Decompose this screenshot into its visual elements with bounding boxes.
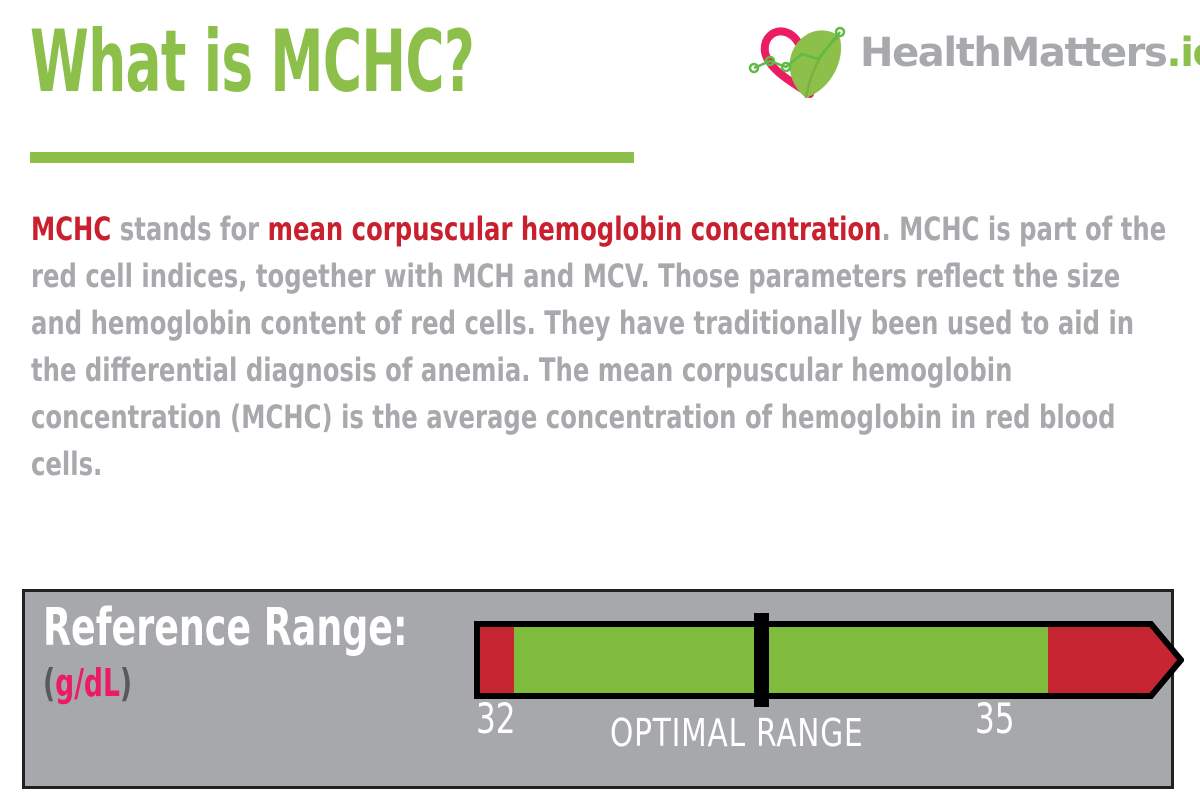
range-arrow-tip-icon [1151, 624, 1181, 696]
range-bar-track [477, 624, 1155, 696]
reference-range-bar [477, 624, 1167, 696]
logo-brand-text: HealthMatters [860, 30, 1166, 76]
reference-range-label-block: Reference Range: (g/dL) [43, 600, 463, 705]
healthmatters-heart-leaf-logo-icon [748, 24, 860, 102]
description-segment-1: stands for [111, 210, 267, 248]
logo-wordmark: HealthMatters.io [860, 33, 1200, 73]
site-logo[interactable]: HealthMatters.io [748, 24, 1168, 102]
description-segment-2: mean corpuscular hemoglobin concentratio… [268, 210, 882, 248]
description-segment-3: . MCHC is part of the red cell indices, … [31, 210, 1166, 483]
range-label-low: 32 [476, 698, 516, 740]
range-segment-optimal [514, 624, 1048, 696]
range-label-optimal: OPTIMAL RANGE [610, 714, 864, 752]
range-marker-tick [754, 613, 769, 707]
units-paren-close: ) [120, 661, 132, 705]
units-value: g/dL [55, 661, 120, 705]
title-underline [30, 152, 634, 163]
range-segment-low [477, 624, 514, 696]
logo-tld-text: .io [1166, 30, 1200, 76]
range-label-high: 35 [975, 698, 1015, 740]
reference-range-units: (g/dL) [43, 663, 337, 705]
reference-range-title: Reference Range: [43, 600, 337, 657]
description-segment-0: MCHC [31, 210, 111, 248]
range-segment-high [1048, 624, 1155, 696]
description-paragraph: MCHC stands for mean corpuscular hemoglo… [31, 206, 1166, 488]
units-paren-open: ( [43, 661, 55, 705]
header: What is MCHC? HealthMatters.io [0, 0, 1200, 190]
page-title: What is MCHC? [30, 14, 474, 110]
reference-range-panel: Reference Range: (g/dL) [22, 589, 1174, 789]
